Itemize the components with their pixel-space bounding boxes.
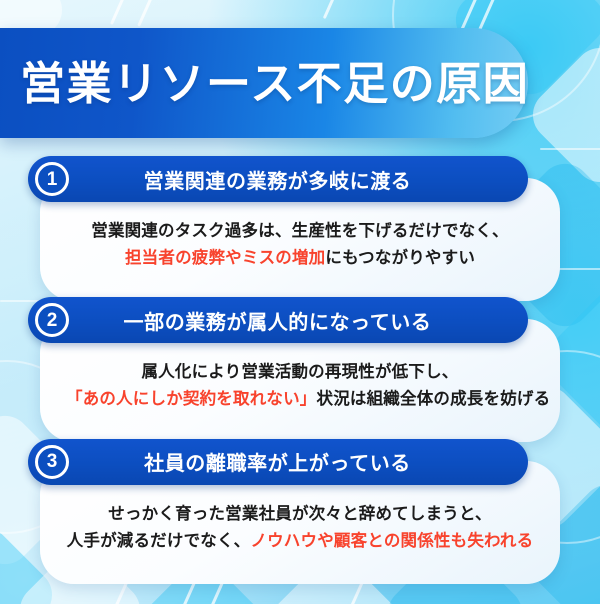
reason-list: 1営業関連の業務が多岐に渡る営業関連のタスク過多は、生産性を下げるだけでなく、担… bbox=[0, 156, 600, 580]
reason-body-line: 営業関連のタスク過多は、生産性を下げるだけでなく、 bbox=[66, 218, 534, 245]
background-slash bbox=[110, 0, 129, 25]
reason-block: 2一部の業務が属人的になっている属人化により営業活動の再現性が低下し、「あの人に… bbox=[0, 297, 600, 432]
background-slash bbox=[137, 0, 158, 27]
reason-number-badge: 2 bbox=[35, 303, 69, 337]
reason-body: 営業関連のタスク過多は、生産性を下げるだけでなく、担当者の疲弊やミスの増加にもつ… bbox=[40, 202, 560, 291]
reason-heading: 一部の業務が属人的になっている bbox=[69, 306, 528, 335]
page-title: 営業リソース不足の原因 bbox=[20, 61, 529, 106]
reason-body-line: せっかく育った営業社員が次々と辞めてしまうと、 bbox=[66, 501, 534, 528]
highlighted-text: 「あの人にしか契約を取れない」 bbox=[66, 390, 317, 408]
reason-body-line: 「あの人にしか契約を取れない」状況は組織全体の成長を妨げる bbox=[66, 386, 534, 413]
body-text: せっかく育った営業社員が次々と辞めてしまうと、 bbox=[108, 505, 491, 523]
body-text: 営業関連のタスク過多は、生産性を下げるだけでなく、 bbox=[91, 222, 509, 240]
reason-body-line: 担当者の疲弊やミスの増加にもつながりやすい bbox=[66, 245, 534, 272]
body-text: 状況は組織全体の成長を妨げる bbox=[317, 390, 551, 408]
reason-heading: 社員の離職率が上がっている bbox=[69, 447, 528, 476]
reason-heading: 営業関連の業務が多岐に渡る bbox=[69, 165, 528, 194]
reason-body: せっかく育った営業社員が次々と辞めてしまうと、人手が減るだけでなく、ノウハウや顧… bbox=[40, 485, 560, 574]
infographic-poster: 営業リソース不足の原因 1営業関連の業務が多岐に渡る営業関連のタスク過多は、生産… bbox=[0, 0, 600, 604]
reason-body-line: 属人化により営業活動の再現性が低下し、 bbox=[66, 359, 534, 386]
body-text: にもつながりやすい bbox=[325, 249, 475, 267]
reason-body: 属人化により営業活動の再現性が低下し、「あの人にしか契約を取れない」状況は組織全… bbox=[40, 343, 560, 432]
reason-number-badge: 1 bbox=[35, 162, 69, 196]
body-text: 人手が減るだけでなく、 bbox=[67, 532, 251, 550]
reason-header-pill: 2一部の業務が属人的になっている bbox=[28, 297, 528, 343]
reason-header-pill: 3社員の離職率が上がっている bbox=[28, 439, 528, 485]
reason-body-line: 人手が減るだけでなく、ノウハウや顧客との関係性も失われる bbox=[66, 528, 534, 555]
reason-block: 3社員の離職率が上がっているせっかく育った営業社員が次々と辞めてしまうと、人手が… bbox=[0, 439, 600, 574]
background-slash bbox=[323, 0, 340, 19]
reason-header-pill: 1営業関連の業務が多岐に渡る bbox=[28, 156, 528, 202]
body-text: 属人化により営業活動の再現性が低下し、 bbox=[142, 363, 459, 381]
highlighted-text: ノウハウや顧客との関係性も失われる bbox=[250, 532, 533, 550]
reason-block: 1営業関連の業務が多岐に渡る営業関連のタスク過多は、生産性を下げるだけでなく、担… bbox=[0, 156, 600, 291]
page-title-banner: 営業リソース不足の原因 bbox=[0, 28, 528, 138]
reason-number-badge: 3 bbox=[35, 445, 69, 479]
highlighted-text: 担当者の疲弊やミスの増加 bbox=[125, 249, 325, 267]
background-hairline bbox=[540, 148, 600, 150]
